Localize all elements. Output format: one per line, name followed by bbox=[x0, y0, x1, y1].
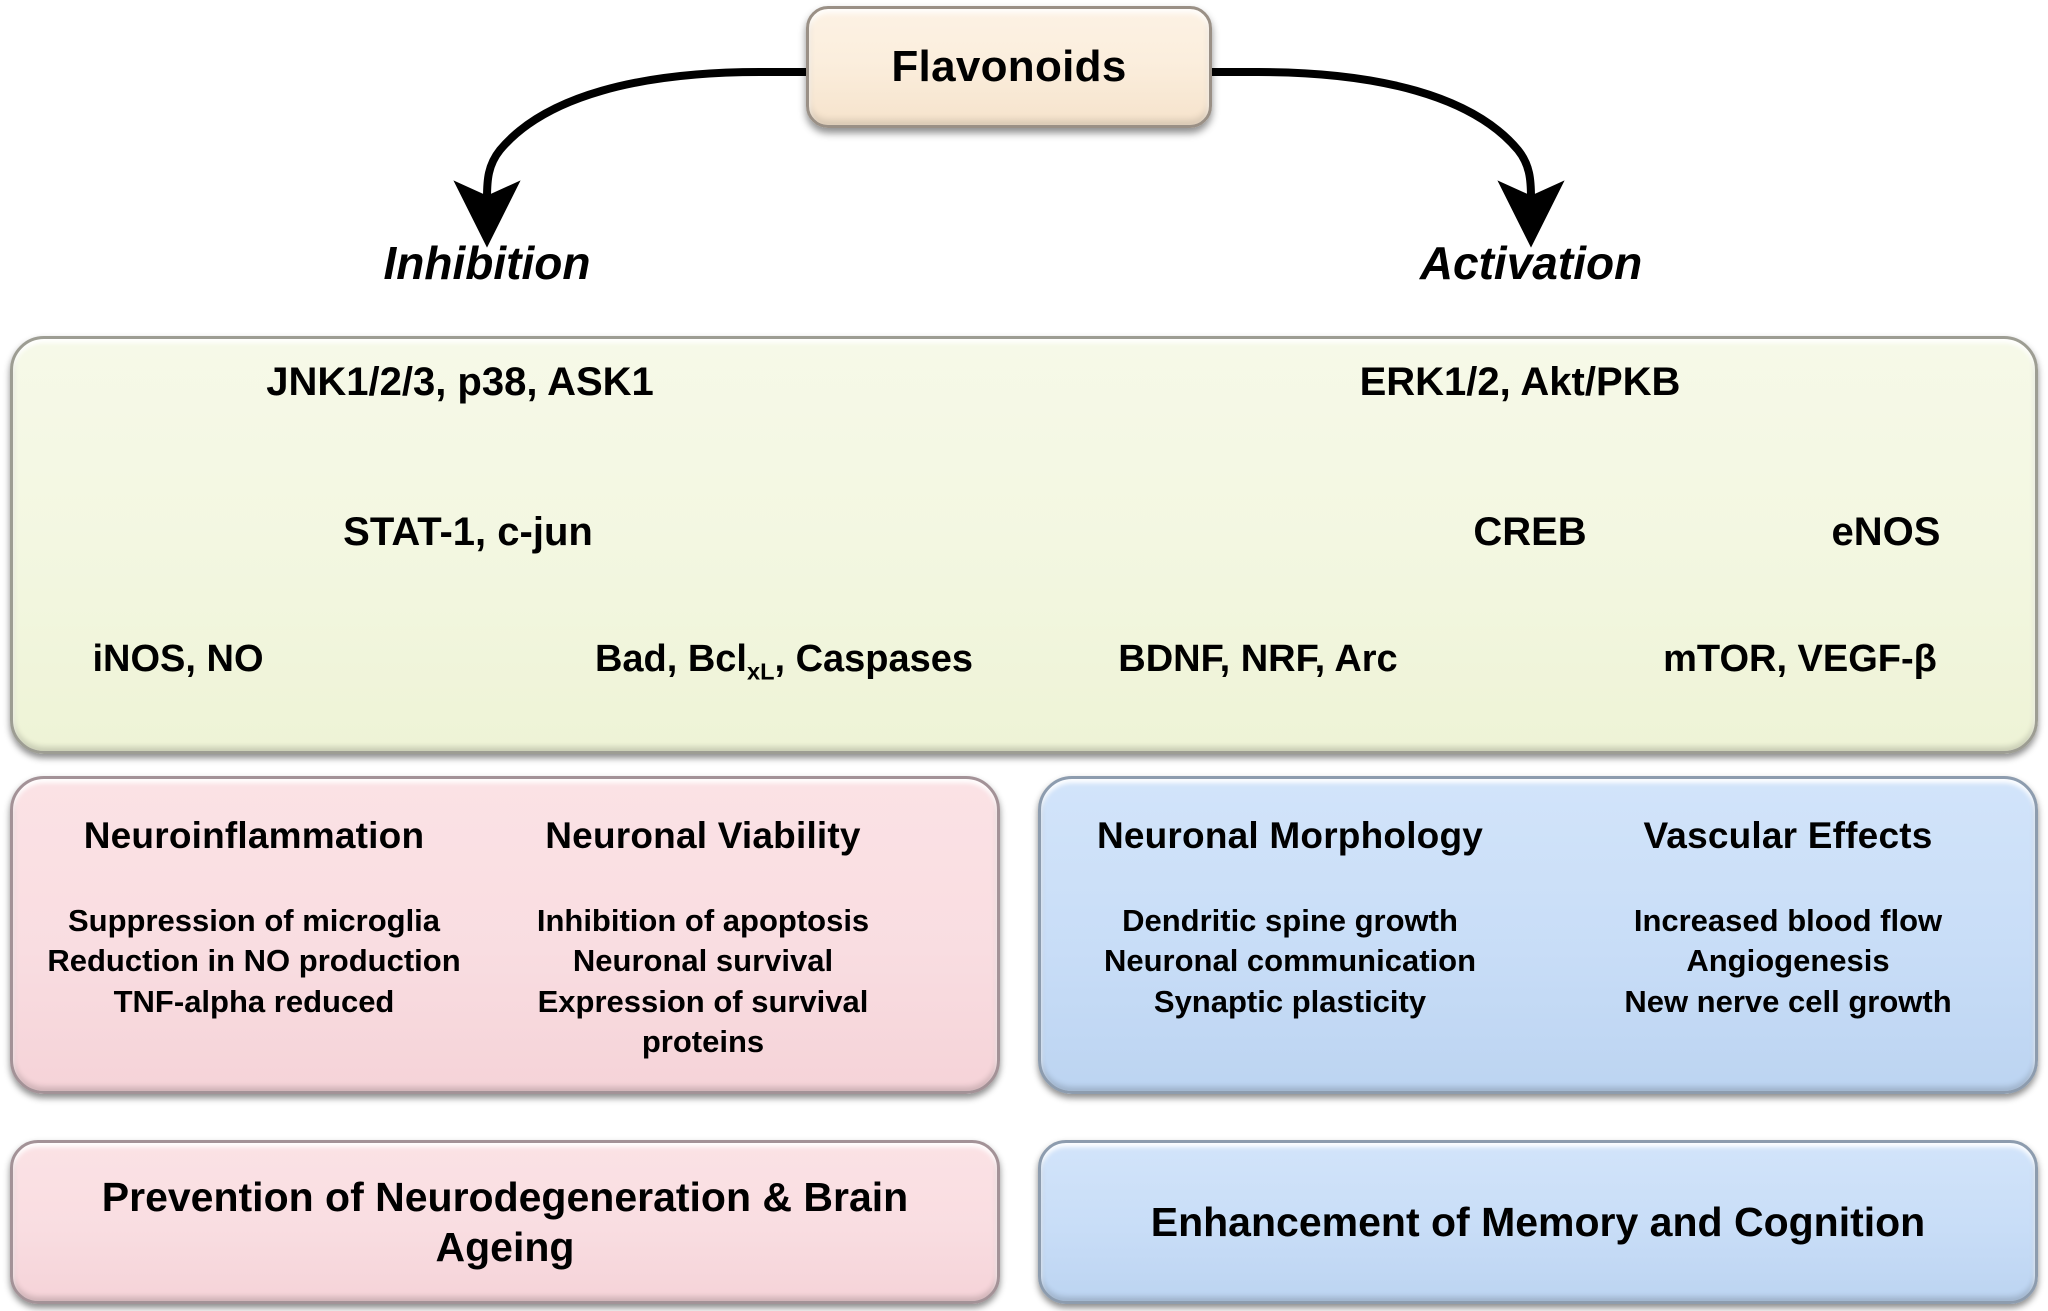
arm-label-activation: Activation bbox=[1420, 240, 1642, 286]
list-item: Neuronal communication bbox=[1055, 941, 1525, 981]
list-item: Dendritic spine growth bbox=[1055, 901, 1525, 941]
effect-heading: Neuronal Morphology bbox=[1055, 815, 1525, 857]
list-item: Neuronal survival bbox=[503, 941, 903, 981]
outcome-panel-memory-cognition: Enhancement of Memory and Cognition bbox=[1038, 1140, 2038, 1304]
node-bdnf-nrf-arc[interactable]: BDNF, NRF, Arc bbox=[1118, 640, 1397, 678]
edge-flavonoids-to-activation bbox=[1212, 72, 1531, 214]
outcome-label-left: Prevention of Neurodegeneration & Brain … bbox=[13, 1172, 997, 1272]
effect-list: Inhibition of apoptosis Neuronal surviva… bbox=[503, 901, 903, 1062]
spacer bbox=[503, 857, 903, 901]
node-stat1-cjun[interactable]: STAT-1, c-jun bbox=[343, 512, 593, 552]
edge-flavonoids-to-inhibition bbox=[487, 72, 806, 214]
spacer bbox=[29, 857, 479, 901]
node-mtor-vegf-beta[interactable]: mTOR, VEGF-β bbox=[1663, 640, 1937, 678]
effect-column-neuronal-viability: Neuronal Viability Inhibition of apoptos… bbox=[503, 815, 903, 1062]
node-enos[interactable]: eNOS bbox=[1832, 512, 1941, 552]
activation-effects-panel: Neuronal Morphology Dendritic spine grow… bbox=[1038, 776, 2038, 1094]
arm-label-inhibition: Inhibition bbox=[384, 240, 591, 286]
effect-heading: Vascular Effects bbox=[1553, 815, 2023, 857]
effect-list: Suppression of microglia Reduction in NO… bbox=[29, 901, 479, 1022]
flavonoids-node[interactable]: Flavonoids bbox=[806, 6, 1212, 128]
effect-column-vascular-effects: Vascular Effects Increased blood flow An… bbox=[1553, 815, 2023, 1022]
node-bclxl-subscript: xL bbox=[747, 659, 774, 685]
list-item: Angiogenesis bbox=[1553, 941, 2023, 981]
outcome-label-right: Enhancement of Memory and Cognition bbox=[1041, 1197, 2035, 1247]
spacer bbox=[1055, 857, 1525, 901]
outcome-panel-neurodegeneration: Prevention of Neurodegeneration & Brain … bbox=[10, 1140, 1000, 1304]
list-item: New nerve cell growth bbox=[1553, 982, 2023, 1022]
list-item: Synaptic plasticity bbox=[1055, 982, 1525, 1022]
list-item: Expression of survival proteins bbox=[503, 982, 903, 1063]
effect-column-neuronal-morphology: Neuronal Morphology Dendritic spine grow… bbox=[1055, 815, 1525, 1022]
node-bad-bclxl-caspases-pre: Bad, Bcl bbox=[595, 638, 747, 680]
effect-column-neuroinflammation: Neuroinflammation Suppression of microgl… bbox=[29, 815, 479, 1022]
effect-list: Increased blood flow Angiogenesis New ne… bbox=[1553, 901, 2023, 1022]
effect-list: Dendritic spine growth Neuronal communic… bbox=[1055, 901, 1525, 1022]
list-item: Reduction in NO production bbox=[29, 941, 479, 981]
effect-heading: Neuronal Viability bbox=[503, 815, 903, 857]
diagram-canvas: Flavonoids Inhibition Activation JNK1/2/… bbox=[0, 0, 2048, 1311]
inhibition-effects-panel: Neuroinflammation Suppression of microgl… bbox=[10, 776, 1000, 1094]
node-erk-akt-pkb[interactable]: ERK1/2, Akt/PKB bbox=[1360, 362, 1681, 402]
list-item: Suppression of microglia bbox=[29, 901, 479, 941]
node-bad-bclxl-caspases[interactable]: Bad, BclxL, Caspases bbox=[595, 640, 973, 684]
node-inos-no[interactable]: iNOS, NO bbox=[92, 640, 263, 678]
node-creb[interactable]: CREB bbox=[1473, 512, 1586, 552]
spacer bbox=[1553, 857, 2023, 901]
list-item: TNF-alpha reduced bbox=[29, 982, 479, 1022]
list-item: Inhibition of apoptosis bbox=[503, 901, 903, 941]
node-bad-bclxl-caspases-post: , Caspases bbox=[774, 638, 973, 680]
effect-heading: Neuroinflammation bbox=[29, 815, 479, 857]
flavonoids-label: Flavonoids bbox=[891, 42, 1126, 92]
list-item: Increased blood flow bbox=[1553, 901, 2023, 941]
node-jnk-p38-ask1[interactable]: JNK1/2/3, p38, ASK1 bbox=[266, 362, 654, 402]
